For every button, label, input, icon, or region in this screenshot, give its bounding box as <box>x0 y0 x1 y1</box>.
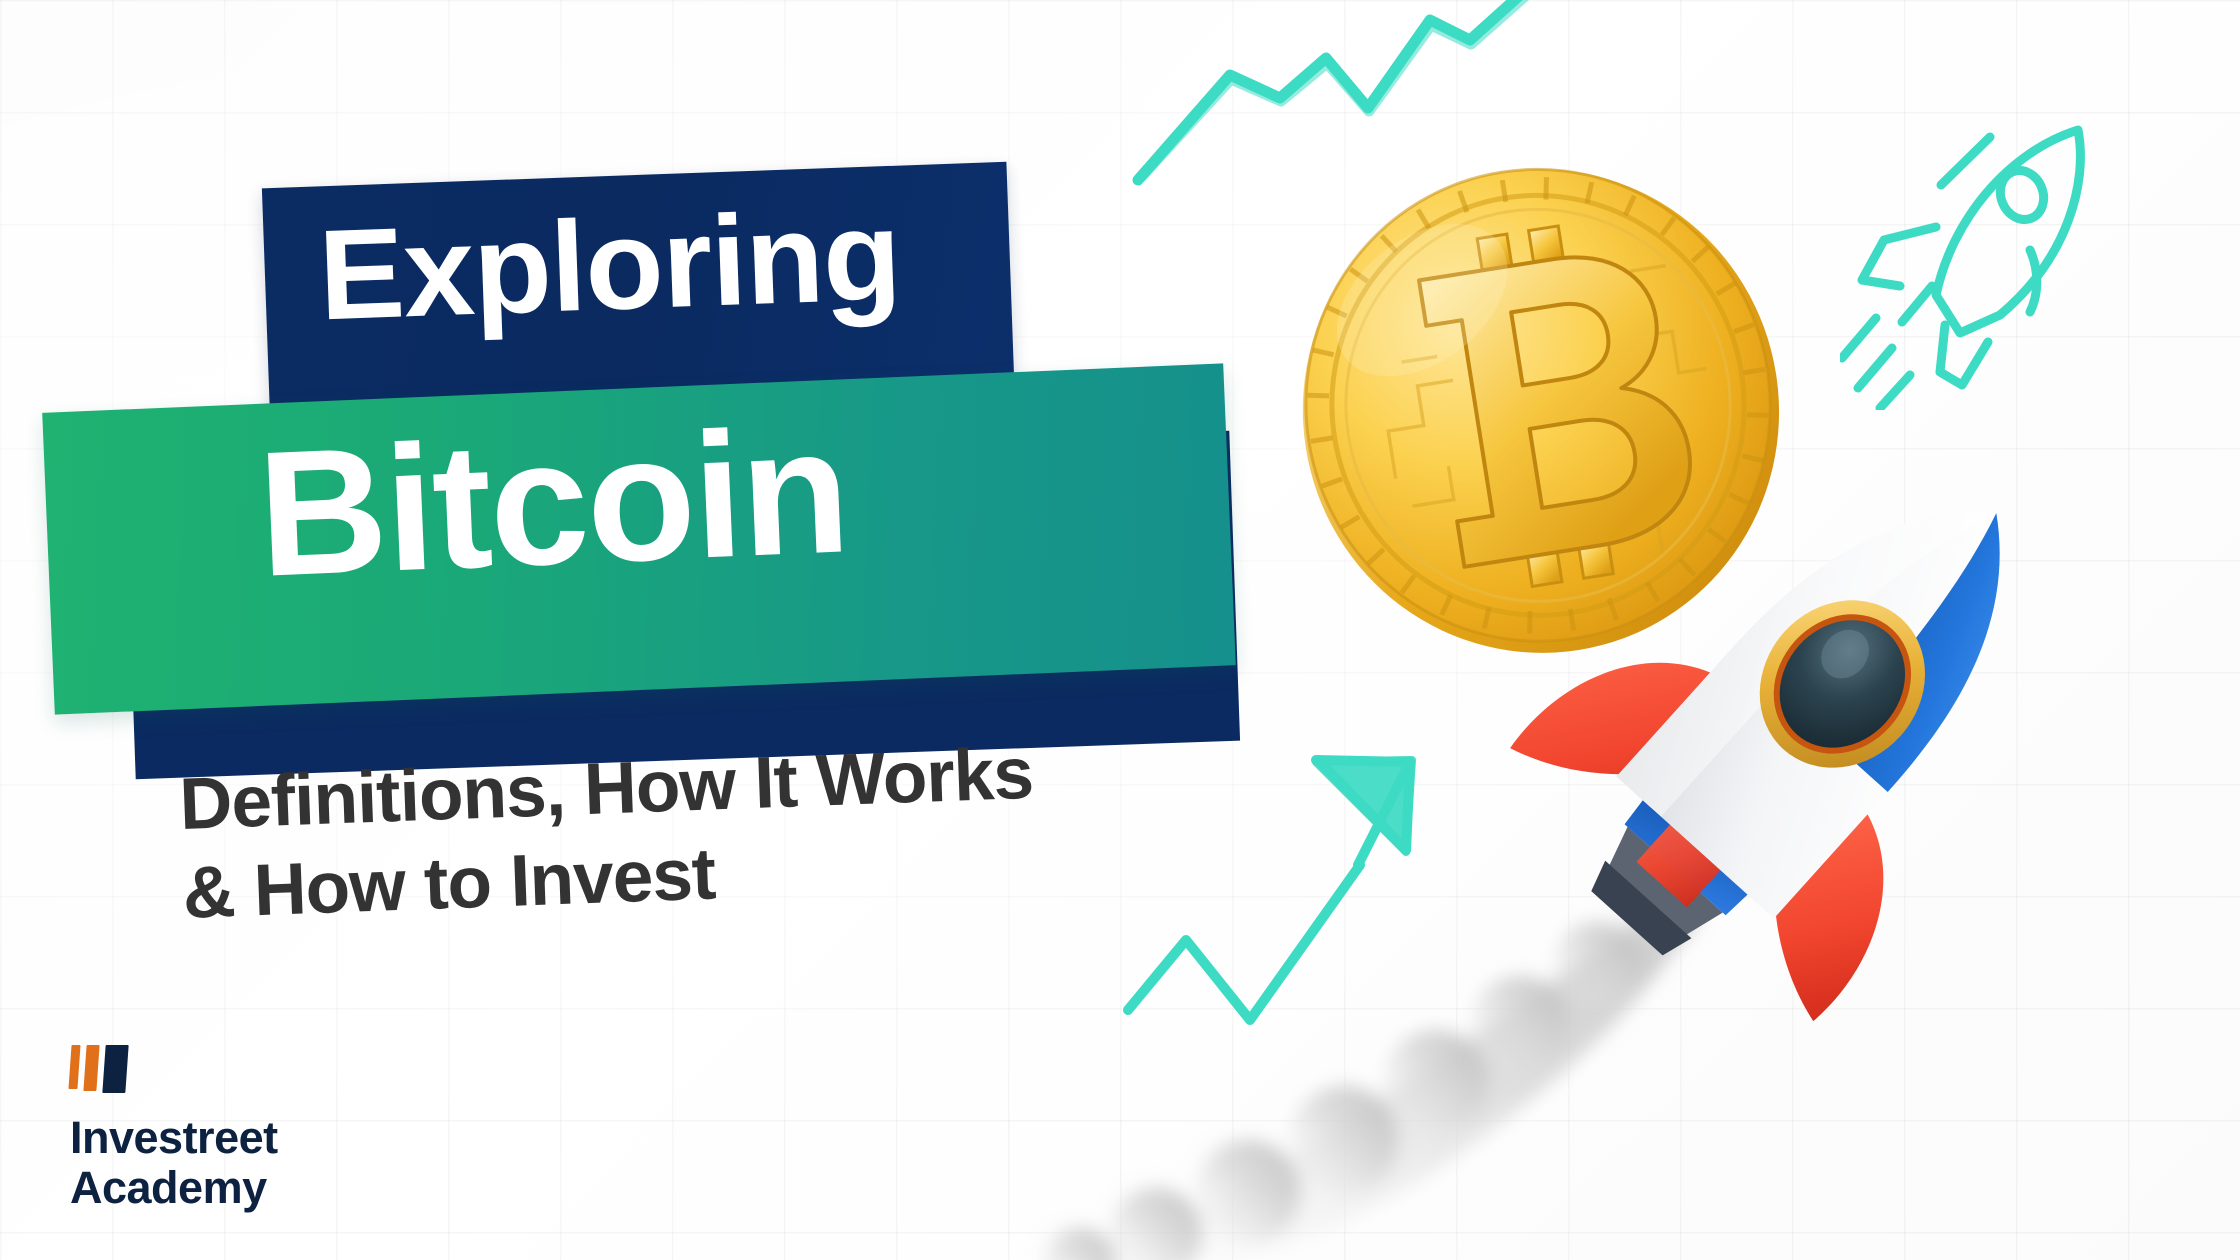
investreet-bars-mark-icon <box>70 1045 132 1093</box>
brand-name: Investreet Academy <box>70 1113 278 1214</box>
headline-bar-green: Bitcoin <box>42 363 1236 714</box>
cover-canvas: Exploring Bitcoin Definitions, How It Wo… <box>0 0 2240 1260</box>
rocket-3d-icon <box>1430 420 2170 1060</box>
headline-line1: Exploring <box>317 192 902 341</box>
rocket-sketch-icon <box>1840 90 2160 410</box>
brand-logo[interactable]: Investreet Academy <box>70 1045 278 1214</box>
headline-line2: Bitcoin <box>255 401 851 604</box>
zigzag-uptrend-line-icon <box>1130 0 1750 210</box>
bitcoin-gold-coin-icon <box>1290 155 1790 655</box>
brand-name-line2: Academy <box>70 1163 278 1213</box>
brand-name-line1: Investreet <box>70 1113 278 1163</box>
